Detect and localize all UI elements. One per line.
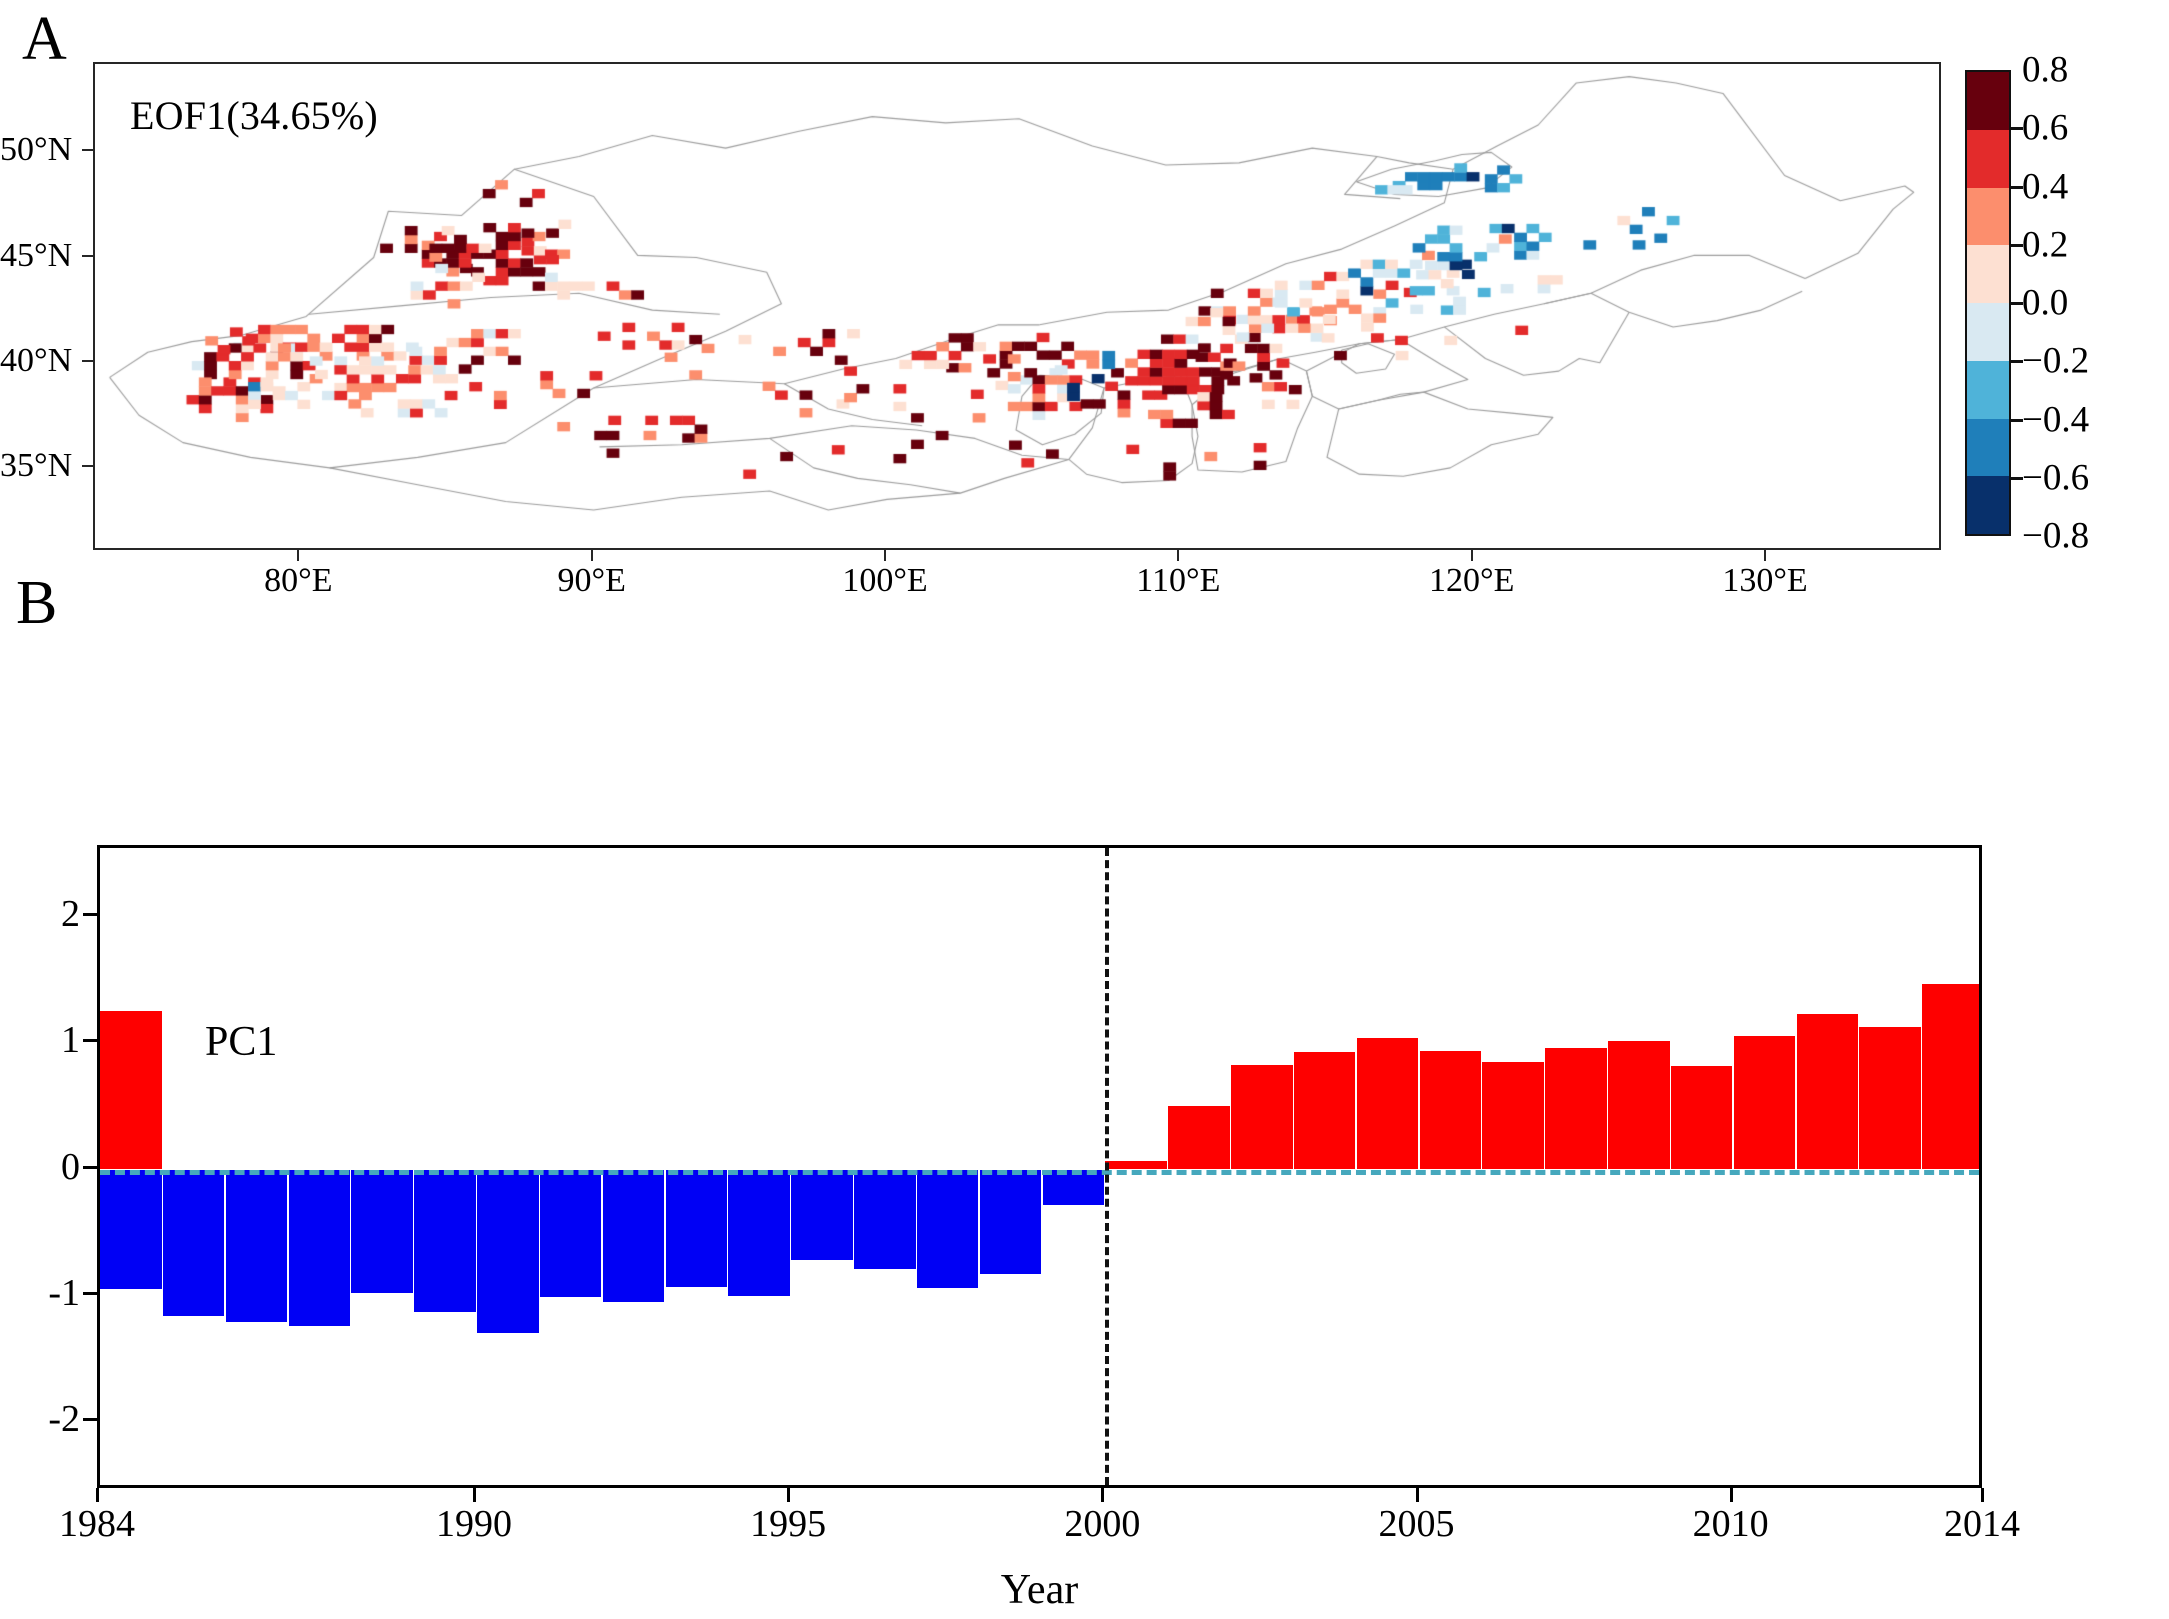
- pc1-x-tick: [1981, 1488, 1984, 1502]
- map-lon-tick: [884, 550, 886, 561]
- pc1-y-label: 1: [0, 1018, 80, 1062]
- pc1-bar: [791, 1170, 853, 1261]
- pc1-bar: [1734, 1036, 1796, 1170]
- map-lat-tick: [82, 255, 93, 257]
- pc1-bar: [1545, 1048, 1607, 1169]
- pc1-x-label: 2005: [1379, 1502, 1455, 1546]
- colorbar: [1965, 70, 2011, 536]
- pc1-bar: [1859, 1027, 1921, 1169]
- pc1-bar: [100, 1011, 162, 1170]
- pc1-y-tick: [83, 1292, 97, 1295]
- map-lon-tick: [591, 550, 593, 561]
- map-lat-label: 40°N: [0, 342, 72, 380]
- colorbar-tick-label: −0.4: [2022, 398, 2089, 441]
- pc1-y-label: 0: [0, 1145, 80, 1189]
- pc1-bar: [1231, 1065, 1293, 1170]
- pc1-y-label: -1: [0, 1271, 80, 1315]
- colorbar-tick-label: −0.2: [2022, 340, 2089, 383]
- colorbar-tick: [2011, 244, 2023, 247]
- pc1-y-tick: [83, 1166, 97, 1169]
- pc1-x-label: 2000: [1064, 1502, 1140, 1546]
- map-lat-label: 35°N: [0, 447, 72, 485]
- pc1-bar: [1357, 1038, 1419, 1169]
- colorbar-band: [1967, 188, 2009, 246]
- pc1-bar: [100, 1170, 162, 1290]
- colorbar-band: [1967, 130, 2009, 188]
- panel-a-letter: A: [22, 8, 67, 70]
- pc1-x-tick: [473, 1488, 476, 1502]
- pc1-bar: [1043, 1170, 1105, 1205]
- pc1-y-tick: [83, 1039, 97, 1042]
- pc1-bar: [603, 1170, 665, 1302]
- pc1-bar: [666, 1170, 728, 1287]
- pc1-bar: [163, 1170, 225, 1316]
- colorbar-band: [1967, 419, 2009, 477]
- pc1-bar: [289, 1170, 351, 1326]
- eof-map-title: EOF1(34.65%): [130, 92, 378, 139]
- pc1-y-tick: [83, 1418, 97, 1421]
- pc1-bar: [351, 1170, 413, 1294]
- pc1-x-label: 1984: [59, 1502, 135, 1546]
- colorbar-band: [1967, 72, 2009, 130]
- pc1-x-label: 1990: [436, 1502, 512, 1546]
- pc1-bar: [917, 1170, 979, 1289]
- colorbar-tick-label: −0.6: [2022, 456, 2089, 499]
- colorbar-band: [1967, 361, 2009, 419]
- pc1-bars: [100, 848, 1979, 1485]
- pc1-x-tick: [787, 1488, 790, 1502]
- pc1-y-label: -2: [0, 1397, 80, 1441]
- panel-b-letter: B: [16, 572, 57, 634]
- breakpoint-line: [1105, 848, 1109, 1485]
- colorbar-tick: [2011, 186, 2023, 189]
- pc1-bar: [1420, 1051, 1482, 1170]
- colorbar-tick-label: 0.4: [2022, 165, 2068, 208]
- map-lon-tick: [1764, 550, 1766, 561]
- pc1-x-tick: [1416, 1488, 1419, 1502]
- colorbar-tick-label: 0.6: [2022, 107, 2068, 150]
- pc1-y-tick: [83, 913, 97, 916]
- pc1-bar: [1482, 1062, 1544, 1169]
- colorbar-tick: [2011, 477, 2023, 480]
- pc1-chart-panel: [97, 845, 1982, 1488]
- pc1-bar: [226, 1170, 288, 1323]
- pc1-x-label: 2014: [1944, 1502, 2020, 1546]
- pc1-bar: [1797, 1014, 1859, 1169]
- pc1-y-label: 2: [0, 892, 80, 936]
- pc1-bar: [540, 1170, 602, 1297]
- map-lat-label: 50°N: [0, 131, 72, 169]
- pc1-bar: [1608, 1041, 1670, 1170]
- map-lon-tick: [297, 550, 299, 561]
- pc1-bar: [854, 1170, 916, 1270]
- map-lon-label: 120°E: [1429, 562, 1514, 600]
- colorbar-band: [1967, 245, 2009, 303]
- map-lat-tick: [82, 360, 93, 362]
- pc1-bar: [728, 1170, 790, 1296]
- pc1-x-tick: [96, 1488, 99, 1502]
- pc1-bar: [1294, 1052, 1356, 1169]
- colorbar-tick: [2011, 302, 2023, 305]
- colorbar-tick: [2011, 360, 2023, 363]
- map-lon-label: 110°E: [1136, 562, 1220, 600]
- colorbar-tick-label: −0.8: [2022, 515, 2089, 558]
- pc1-bar: [1105, 1161, 1167, 1170]
- colorbar-band: [1967, 476, 2009, 534]
- map-lon-tick: [1177, 550, 1179, 561]
- colorbar-tick-label: 0.0: [2022, 282, 2068, 325]
- map-lon-label: 80°E: [264, 562, 332, 600]
- pc1-x-label: 2010: [1693, 1502, 1769, 1546]
- colorbar-tick-label: 0.2: [2022, 223, 2068, 266]
- pc1-bar: [1168, 1106, 1230, 1169]
- colorbar-band: [1967, 303, 2009, 361]
- map-lon-label: 130°E: [1722, 562, 1807, 600]
- pc1-bar: [1671, 1066, 1733, 1169]
- map-lat-tick: [82, 465, 93, 467]
- colorbar-tick: [2011, 127, 2023, 130]
- pc1-x-tick: [1101, 1488, 1104, 1502]
- pc1-bar: [1922, 984, 1982, 1169]
- colorbar-tick: [2011, 419, 2023, 422]
- figure-root: A B EOF1(34.65%) 50°N45°N40°N35°N80°E90°…: [0, 0, 2169, 1619]
- map-lat-label: 45°N: [0, 237, 72, 275]
- pc1-bar: [414, 1170, 476, 1312]
- pc1-xaxis-title: Year: [1001, 1566, 1078, 1614]
- map-lat-tick: [82, 149, 93, 151]
- colorbar-tick-label: 0.8: [2022, 49, 2068, 92]
- pc1-x-label: 1995: [750, 1502, 826, 1546]
- pc1-bar: [477, 1170, 539, 1334]
- pc1-x-tick: [1730, 1488, 1733, 1502]
- map-lon-label: 90°E: [557, 562, 625, 600]
- pc1-bar: [980, 1170, 1042, 1275]
- map-lon-tick: [1471, 550, 1473, 561]
- zero-reference-line: [100, 1170, 1979, 1175]
- pc1-title: PC1: [205, 1018, 277, 1066]
- map-lon-label: 100°E: [842, 562, 927, 600]
